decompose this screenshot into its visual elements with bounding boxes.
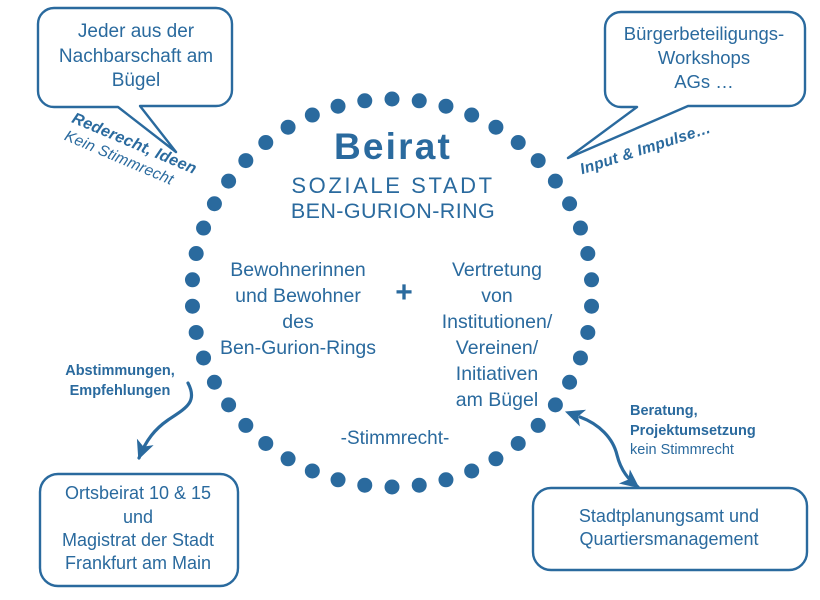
- ring-dot: [580, 325, 595, 340]
- voting-rights-label: -Stimmrecht-: [310, 428, 480, 450]
- ring-dot: [385, 480, 400, 495]
- ring-right-line-3: Institutionen/: [414, 310, 580, 336]
- ring-dot: [412, 478, 427, 493]
- ring-dot: [464, 108, 479, 123]
- annotation-beratung-line-2: Projektumsetzung: [630, 422, 795, 442]
- ring-right-line-5: Initiativen: [414, 362, 580, 388]
- ring-dot: [511, 436, 526, 451]
- ring-dot: [357, 478, 372, 493]
- ring-dot: [488, 120, 503, 135]
- ring-left-line-3: des: [205, 310, 391, 336]
- ring-right-column: Vertretung von Institutionen/ Vereinen/ …: [414, 258, 580, 414]
- ring-dot: [584, 299, 599, 314]
- ring-dot: [258, 135, 273, 150]
- ring-dot: [281, 451, 296, 466]
- ring-dot: [331, 472, 346, 487]
- ring-dot: [207, 375, 222, 390]
- ring-dot: [185, 299, 200, 314]
- ring-dot: [580, 246, 595, 261]
- ring-dot: [584, 272, 599, 287]
- ring-dot: [438, 99, 453, 114]
- ring-dot: [305, 463, 320, 478]
- ring-dot: [488, 451, 503, 466]
- ring-dot: [548, 174, 563, 189]
- ring-dot: [305, 108, 320, 123]
- annotation-beratung-line-1: Beratung,: [630, 402, 795, 422]
- ring-dot: [412, 93, 427, 108]
- ring-right-line-2: von: [414, 284, 580, 310]
- ring-dot: [221, 397, 236, 412]
- ring-right-line-6: am Bügel: [414, 388, 580, 414]
- annotation-abstimmungen-line-2: Empfehlungen: [45, 382, 195, 402]
- ring-left-column: Bewohnerinnen und Bewohner des Ben-Gurio…: [205, 258, 391, 362]
- ring-dot: [438, 472, 453, 487]
- annotation-abstimmungen: Abstimmungen, Empfehlungen: [45, 362, 195, 401]
- box-bottom-left-shape: [40, 474, 238, 586]
- annotation-abstimmungen-line-1: Abstimmungen,: [45, 362, 195, 382]
- annotation-beratung-line-3: kein Stimmrecht: [630, 441, 795, 461]
- box-bottom-right-shape: [533, 488, 807, 570]
- annotation-beratung: Beratung, Projektumsetzung kein Stimmrec…: [630, 402, 795, 461]
- diagram-canvas: Jeder aus der Nachbarschaft am Bügel Bür…: [0, 0, 820, 600]
- ring-dot: [189, 325, 204, 340]
- ring-dot: [258, 436, 273, 451]
- ring-dot: [207, 196, 222, 211]
- ring-dot: [196, 221, 211, 236]
- ring-dot: [185, 272, 200, 287]
- ring-dot: [189, 246, 204, 261]
- ring-dot: [238, 418, 253, 433]
- ring-dot: [573, 221, 588, 236]
- ring-dot: [281, 120, 296, 135]
- ring-dot: [221, 174, 236, 189]
- ring-dot: [531, 153, 546, 168]
- ring-dot: [511, 135, 526, 150]
- ring-dot: [464, 463, 479, 478]
- ring-left-line-4: Ben-Gurion-Rings: [205, 336, 391, 362]
- ring-right-line-4: Vereinen/: [414, 336, 580, 362]
- ring-right-line-1: Vertretung: [414, 258, 580, 284]
- ring-dot: [385, 92, 400, 107]
- ring-dot: [531, 418, 546, 433]
- ring-dot: [238, 153, 253, 168]
- ring-dot: [331, 99, 346, 114]
- ring-dot: [357, 93, 372, 108]
- ring-left-line-1: Bewohnerinnen: [205, 258, 391, 284]
- ring-dot: [562, 196, 577, 211]
- ring-left-line-2: und Bewohner: [205, 284, 391, 310]
